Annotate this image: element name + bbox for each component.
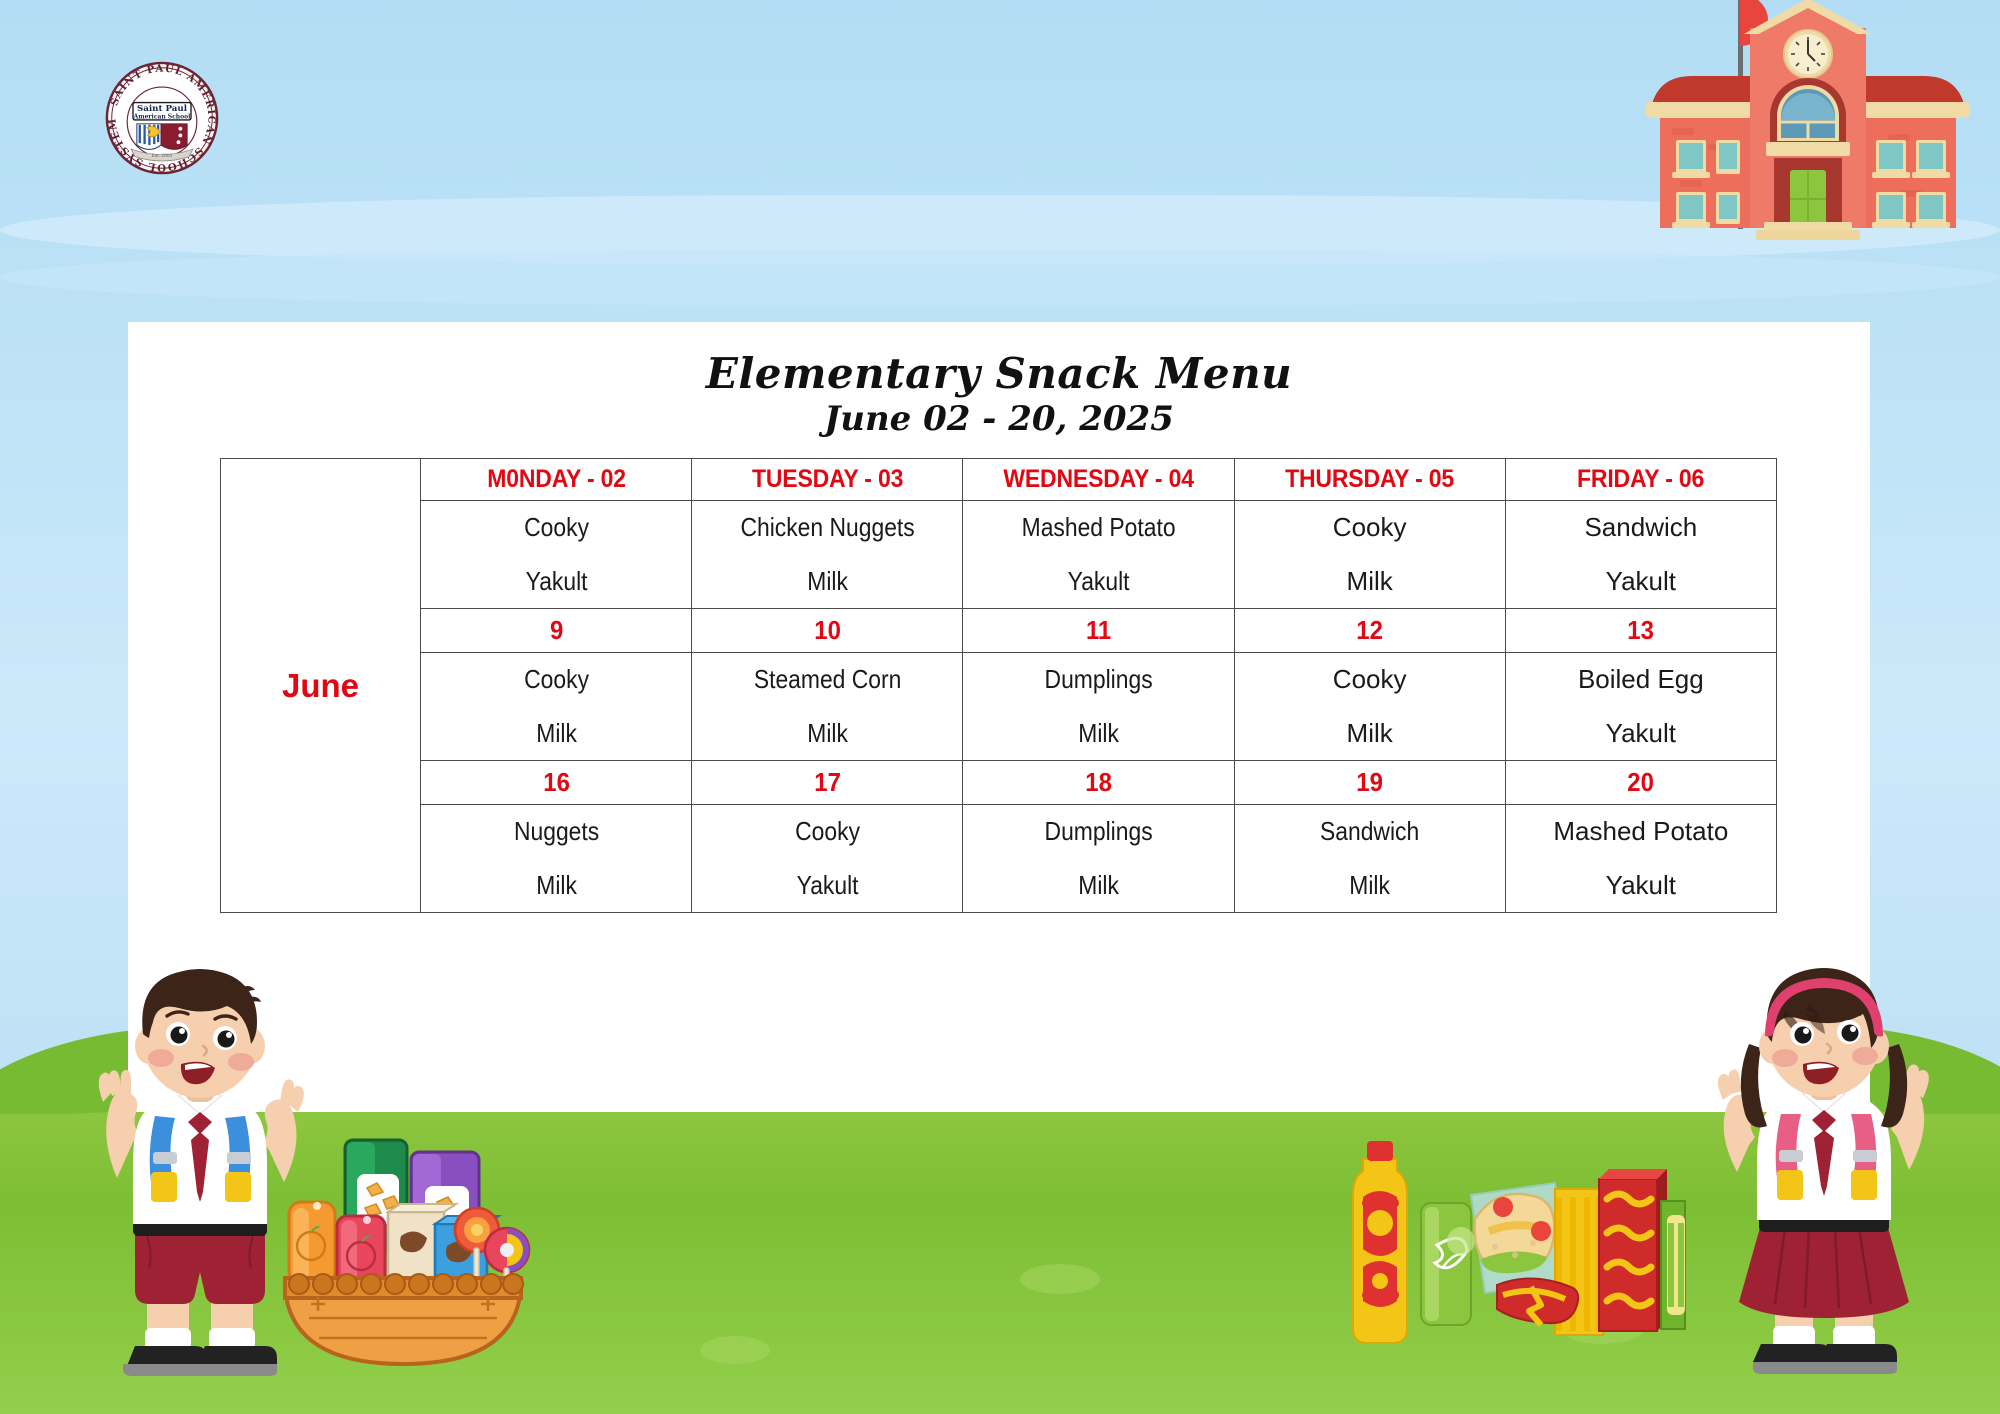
menu-drink-cell: Milk	[708, 707, 947, 761]
menu-drink-cell: Yakult	[979, 555, 1218, 609]
table-date-row: 16 17 18 19 20	[221, 761, 1777, 805]
school-building-icon	[1638, 0, 1978, 244]
cloud-band	[0, 250, 2000, 305]
menu-food-cell: Sandwich	[1250, 805, 1489, 859]
column-header-tuesday: TUESDAY - 03	[703, 459, 952, 501]
menu-food-cell: Sandwich	[1505, 501, 1776, 555]
snack-menu-table: June M0NDAY - 02 TUESDAY - 03 WEDNESDAY …	[220, 458, 1777, 913]
menu-food-cell: Cooky	[1234, 653, 1505, 707]
menu-food-cell: Steamed Corn	[708, 653, 947, 707]
page-title: Elementary Snack Menu	[128, 350, 1870, 397]
menu-food-cell: Boiled Egg	[1505, 653, 1776, 707]
schoolgirl-illustration	[1685, 948, 1960, 1378]
menu-drink-cell: Milk	[1234, 707, 1505, 761]
month-label: June	[221, 459, 421, 913]
date-cell: 12	[1245, 609, 1494, 653]
menu-food-cell: Dumplings	[979, 805, 1218, 859]
date-cell: 13	[1516, 609, 1765, 653]
menu-food-cell: Nuggets	[437, 805, 676, 859]
date-cell: 20	[1516, 761, 1765, 805]
menu-food-cell: Cooky	[437, 653, 676, 707]
menu-drink-cell: Milk	[979, 859, 1218, 913]
date-cell: 9	[431, 609, 680, 653]
column-header-monday: M0NDAY - 02	[431, 459, 680, 501]
menu-drink-cell: Milk	[437, 707, 676, 761]
table-row: Nuggets Cooky Dumplings Sandwich Mashed …	[221, 805, 1777, 859]
menu-drink-cell: Milk	[1234, 555, 1505, 609]
menu-food-cell: Cooky	[437, 501, 676, 555]
poster-canvas: SAINT PAUL AMERICAN SCHOOL SYSTEM Saint …	[0, 0, 2000, 1414]
table-date-row: 9 10 11 12 13	[221, 609, 1777, 653]
date-cell: 17	[703, 761, 952, 805]
menu-food-cell: Chicken Nuggets	[708, 501, 947, 555]
date-cell: 11	[974, 609, 1223, 653]
column-header-thursday: THURSDAY - 05	[1245, 459, 1494, 501]
menu-drink-cell: Yakult	[1505, 859, 1776, 913]
logo-center-line2: American School	[133, 113, 191, 120]
date-cell: 18	[974, 761, 1223, 805]
logo-founded: Est. 2003	[152, 154, 173, 159]
table-row: Cooky Chicken Nuggets Mashed Potato Cook…	[221, 501, 1777, 555]
menu-drink-cell: Yakult	[708, 859, 947, 913]
table-row: Milk Yakult Milk Milk Yakult	[221, 859, 1777, 913]
menu-food-cell: Dumplings	[979, 653, 1218, 707]
grass-patch	[1020, 1264, 1100, 1294]
menu-drink-cell: Milk	[979, 707, 1218, 761]
date-cell: 10	[703, 609, 952, 653]
date-cell: 19	[1245, 761, 1494, 805]
menu-drink-cell: Yakult	[437, 555, 676, 609]
menu-food-cell: Cooky	[1234, 501, 1505, 555]
assorted-snacks-icon	[1345, 1137, 1685, 1372]
snack-basket-icon	[275, 1128, 530, 1378]
menu-food-cell: Mashed Potato	[979, 501, 1218, 555]
title-block: Elementary Snack Menu June 02 - 20, 2025	[128, 350, 1870, 440]
menu-drink-cell: Yakult	[1505, 707, 1776, 761]
menu-drink-cell: Milk	[708, 555, 947, 609]
column-header-wednesday: WEDNESDAY - 04	[974, 459, 1223, 501]
column-header-friday: FRIDAY - 06	[1516, 459, 1765, 501]
table-row: Milk Milk Milk Milk Yakult	[221, 707, 1777, 761]
table-row: Cooky Steamed Corn Dumplings Cooky Boile…	[221, 653, 1777, 707]
table-row: Yakult Milk Yakult Milk Yakult	[221, 555, 1777, 609]
school-logo: SAINT PAUL AMERICAN SCHOOL SYSTEM Saint …	[104, 60, 220, 176]
menu-drink-cell: Milk	[437, 859, 676, 913]
table-header-row: June M0NDAY - 02 TUESDAY - 03 WEDNESDAY …	[221, 459, 1777, 501]
menu-food-cell: Mashed Potato	[1505, 805, 1776, 859]
date-cell: 16	[431, 761, 680, 805]
menu-panel: Elementary Snack Menu June 02 - 20, 2025…	[128, 322, 1870, 1112]
menu-food-cell: Cooky	[708, 805, 947, 859]
menu-drink-cell: Milk	[1250, 859, 1489, 913]
menu-drink-cell: Yakult	[1505, 555, 1776, 609]
grass-patch	[700, 1336, 770, 1364]
date-range-subtitle: June 02 - 20, 2025	[128, 399, 1870, 440]
